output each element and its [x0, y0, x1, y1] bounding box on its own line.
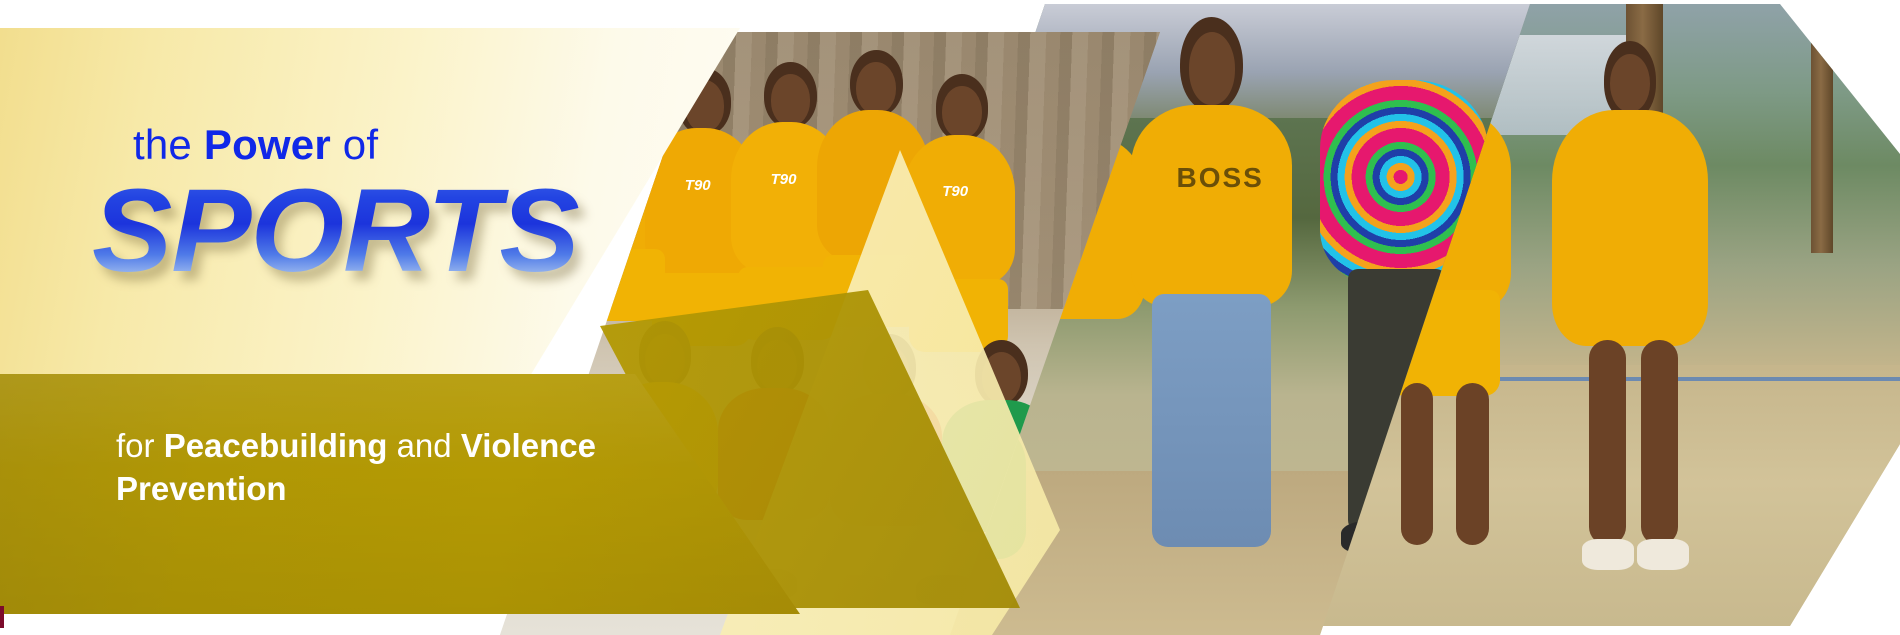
kicker-pre: the — [133, 121, 204, 168]
boss-shirt — [1131, 105, 1292, 307]
edge-artifact — [0, 606, 4, 628]
sports-banner: 7 — [0, 0, 1900, 635]
boss-shirt-text: BOSS — [1177, 162, 1264, 194]
jersey-mark: T90 — [771, 171, 797, 188]
wordmark-sports: SPORTS — [92, 172, 579, 290]
jersey-mark: T90 — [942, 183, 968, 200]
subtitle-lead: for — [116, 427, 164, 464]
kicker-post: of — [331, 121, 378, 168]
kicker-emphasis: Power — [204, 121, 331, 168]
banner-subtitle: for Peacebuilding and Violence Preventio… — [116, 425, 676, 511]
jersey-mark: T90 — [685, 177, 711, 194]
banner-kicker: the Power of — [133, 124, 378, 166]
subtitle-mid: and — [387, 427, 460, 464]
subtitle-peacebuilding: Peacebuilding — [164, 427, 388, 464]
